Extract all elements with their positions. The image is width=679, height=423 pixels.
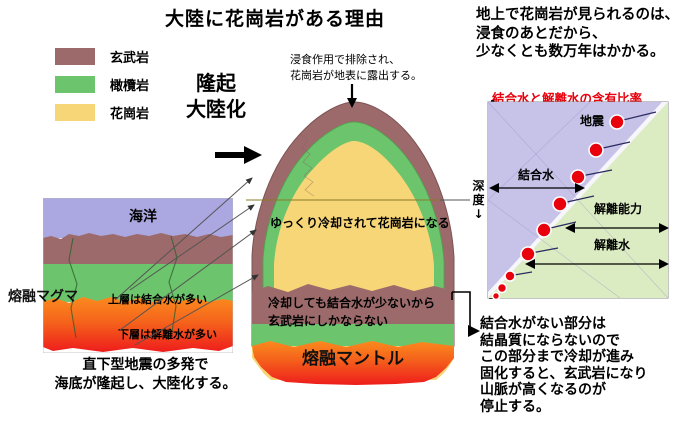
basalt-conclusion-note: 結合水がない部分は 結晶質にならないので この部分まで冷却が進み 固化すると、玄… bbox=[480, 316, 647, 415]
legend-item-granite: 花崗岩 bbox=[55, 98, 205, 126]
chart-label-dissociation-capacity: 解離能力 bbox=[594, 200, 642, 217]
page-title: 大陸に花崗岩がある理由 bbox=[110, 4, 440, 31]
label-ocean: 海洋 bbox=[129, 206, 157, 226]
legend-swatch-peridotite bbox=[55, 76, 95, 93]
basalt-note-line-1: 冷却しても結合水が少ないから bbox=[268, 294, 435, 312]
bottomright-note-line-3: この部分まで冷却が進み bbox=[480, 349, 647, 366]
basalt-note-line-2: 玄武岩にしかならない bbox=[268, 312, 435, 330]
erosion-note: 浸食作用で排除され、 花崗岩が地表に露出する。 bbox=[290, 52, 422, 84]
legend-swatch-basalt bbox=[55, 48, 95, 65]
bottomright-note-line-4: 固化すると、玄武岩になり bbox=[480, 366, 647, 383]
earthquake-point bbox=[498, 284, 507, 293]
legend-swatch-granite bbox=[55, 104, 95, 121]
earthquake-point bbox=[589, 143, 603, 157]
earthquake-point bbox=[537, 223, 551, 237]
continental-dome-diagram: ゆっくり冷却されて花崗岩になる 冷却しても結合水が少ないから 玄武岩にしかならな… bbox=[246, 96, 461, 386]
bottomright-note-line-5: 山脈が高くなるのが bbox=[480, 382, 647, 399]
bottomright-note-line-1: 結合水がない部分は bbox=[480, 316, 647, 333]
water-ratio-chart: 結合水 解離水 解離能力 地震 bbox=[470, 100, 675, 305]
left-caption-line-1: 直下型地震の多発で bbox=[48, 356, 243, 375]
label-slow-cooling-granite: ゆっくり冷却されて花崗岩になる bbox=[270, 214, 450, 231]
earthquake-point bbox=[553, 197, 567, 211]
oceanic-crust-caption: 直下型地震の多発で 海底が隆起し、大陸化する。 bbox=[48, 356, 243, 394]
label-lower-layer-dissociated-water: 下層は解離水が多い bbox=[118, 326, 217, 342]
topright-note-line-3: 少なくとも数万年はかかる。 bbox=[476, 43, 679, 62]
water-ratio-chart-svg bbox=[470, 100, 675, 305]
earthquake-point bbox=[521, 247, 535, 261]
chart-label-bound-water: 結合水 bbox=[518, 166, 554, 183]
bracket-arrow-icon bbox=[468, 325, 480, 337]
label-molten-magma: 熔融マグマ bbox=[8, 286, 78, 306]
legend-label-peridotite: 橄欖岩 bbox=[110, 75, 149, 94]
continental-dome-svg bbox=[246, 96, 461, 386]
bottomright-note-line-2: 結晶質にならないので bbox=[480, 333, 647, 350]
erosion-note-line-1: 浸食作用で排除され、 bbox=[290, 52, 422, 68]
chart-label-earthquake: 地震 bbox=[580, 112, 604, 129]
earthquake-point bbox=[493, 293, 500, 300]
earthquake-point bbox=[571, 170, 585, 184]
rock-legend: 玄武岩 橄欖岩 花崗岩 bbox=[55, 42, 205, 126]
erosion-note-line-2: 花崗岩が地表に露出する。 bbox=[290, 68, 422, 84]
label-molten-mantle: 熔融マントル bbox=[302, 344, 404, 369]
left-caption-line-2: 海底が隆起し、大陸化する。 bbox=[48, 375, 243, 394]
oceanic-crust-diagram: 海洋 熔融マグマ 上層は結合水が多い 下層は解離水が多い bbox=[43, 198, 233, 353]
uplift-label: 隆起 大陸化 bbox=[186, 70, 246, 122]
uplift-line-1: 隆起 bbox=[186, 70, 246, 96]
label-upper-layer-bound-water: 上層は結合水が多い bbox=[108, 291, 207, 307]
legend-item-peridotite: 橄欖岩 bbox=[55, 70, 205, 98]
bottomright-note-line-6: 停止する。 bbox=[480, 399, 647, 416]
legend-label-granite: 花崗岩 bbox=[110, 103, 149, 122]
erosion-time-note: 地上で花崗岩が見られるのは、 浸食のあとだから、 少なくとも数万年はかかる。 bbox=[476, 6, 679, 62]
earthquake-point bbox=[505, 271, 515, 281]
chart-label-dissociated-water: 解離水 bbox=[594, 236, 630, 253]
legend-item-basalt: 玄武岩 bbox=[55, 42, 205, 70]
uplift-line-2: 大陸化 bbox=[186, 96, 246, 122]
label-basalt-only: 冷却しても結合水が少ないから 玄武岩にしかならない bbox=[268, 294, 435, 330]
topright-note-line-2: 浸食のあとだから、 bbox=[476, 25, 679, 44]
legend-label-basalt: 玄武岩 bbox=[110, 47, 149, 66]
topright-note-line-1: 地上で花崗岩が見られるのは、 bbox=[476, 6, 679, 25]
earthquake-point bbox=[610, 115, 624, 129]
